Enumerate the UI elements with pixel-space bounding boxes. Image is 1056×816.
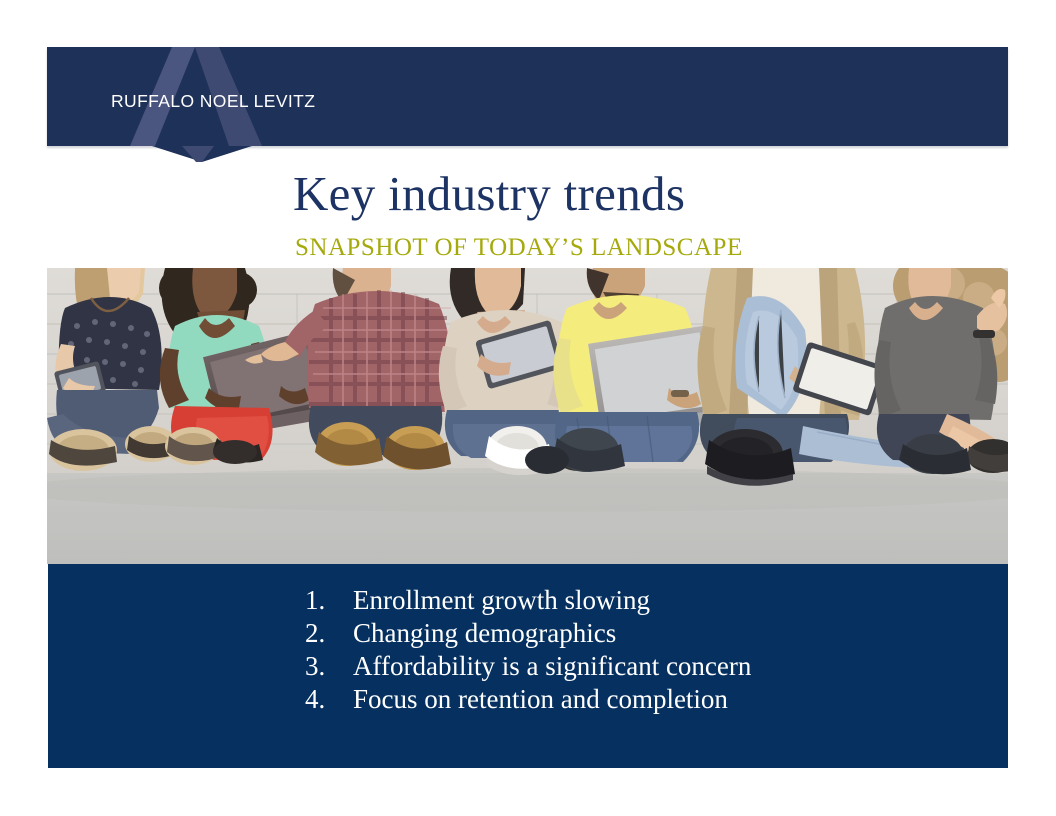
list-item-number: 2. [305, 617, 353, 650]
list-item: 1. Enrollment growth slowing [305, 584, 751, 617]
list-item-label: Enrollment growth slowing [353, 584, 650, 617]
key-trends-panel: 1. Enrollment growth slowing 2. Changing… [48, 564, 1008, 768]
list-item: 2. Changing demographics [305, 617, 751, 650]
list-item-number: 3. [305, 650, 353, 683]
page-subtitle: SNAPSHOT OF TODAY’S LANDSCAPE [295, 234, 743, 262]
list-item-label: Changing demographics [353, 617, 616, 650]
list-item-label: Focus on retention and completion [353, 683, 728, 716]
hero-photo-illustration [47, 268, 1008, 564]
list-item: 4. Focus on retention and completion [305, 683, 751, 716]
brand-wordmark: RUFFALO NOEL LEVITZ [111, 93, 315, 111]
key-trends-list: 1. Enrollment growth slowing 2. Changing… [305, 584, 751, 716]
list-item: 3. Affordability is a significant concer… [305, 650, 751, 683]
page-title: Key industry trends [293, 168, 685, 219]
slide-canvas: RUFFALO NOEL LEVITZ Key industry trends … [0, 0, 1056, 816]
list-item-number: 4. [305, 683, 353, 716]
list-item-number: 1. [305, 584, 353, 617]
list-item-label: Affordability is a significant concern [353, 650, 751, 683]
hero-photo [47, 268, 1008, 564]
header-notch [152, 146, 252, 162]
header-notch-icon [152, 146, 252, 162]
